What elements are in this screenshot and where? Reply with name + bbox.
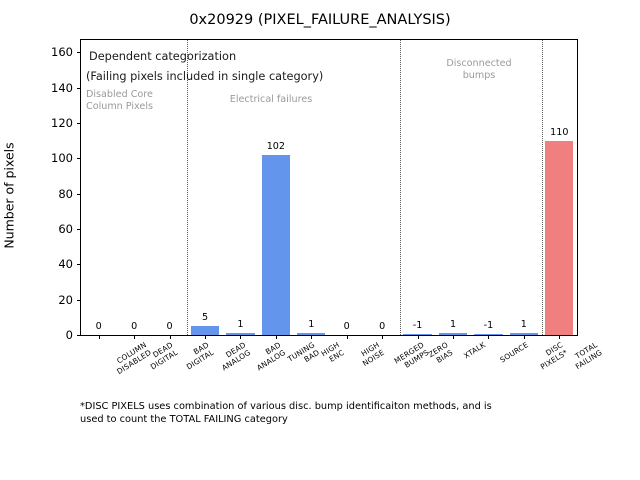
annotation-disconnected-bumps: Disconnected bumps — [446, 58, 511, 81]
category-divider-line — [187, 40, 188, 335]
x-axis-tick-label: TUNINGBAD — [286, 341, 321, 372]
x-axis-tick-mark — [134, 335, 135, 339]
x-axis-tick-label: HIGHNOISE — [356, 341, 386, 368]
x-axis-tick-mark — [170, 335, 171, 339]
bar — [262, 155, 290, 335]
x-axis-tick-label: BADDIGITAL — [180, 341, 215, 372]
x-axis-tick-mark — [382, 335, 383, 339]
y-axis-tick-mark — [77, 123, 81, 124]
y-axis-tick-label: 160 — [11, 45, 81, 59]
y-axis-tick-label: 60 — [11, 222, 81, 236]
bar — [439, 333, 467, 335]
bar-value-label: -1 — [484, 320, 494, 331]
bar — [474, 334, 502, 336]
x-axis-tick-label: MERGEDBUMPS — [393, 341, 431, 374]
bar-value-label: 0 — [131, 321, 137, 332]
bar-value-label: 1 — [521, 319, 527, 330]
x-axis-tick-mark — [311, 335, 312, 339]
y-axis-tick-mark — [77, 229, 81, 230]
y-axis-tick-label: 100 — [11, 151, 81, 165]
chart-figure: 0x20929 (PIXEL_FAILURE_ANALYSIS) Number … — [0, 0, 640, 480]
bar-value-label: 110 — [550, 127, 568, 138]
x-axis-tick-label: HIGHENC — [320, 341, 346, 366]
annotation-dependent-categorization-line2: (Failing pixels included in single categ… — [86, 70, 323, 83]
bar — [510, 333, 538, 335]
bar-value-label: 0 — [344, 321, 350, 332]
annotation-dependent-categorization-line1: Dependent categorization — [89, 50, 236, 63]
x-axis-tick-mark — [559, 335, 560, 339]
x-axis-tick-label: BADANALOG — [251, 341, 288, 373]
x-axis-tick-label: ZEROBIAS — [427, 341, 454, 367]
category-divider-line — [542, 40, 543, 335]
category-divider-line — [400, 40, 401, 335]
x-axis-tick-label: DEADDIGITAL — [145, 341, 180, 372]
y-axis-tick-label: 140 — [11, 81, 81, 95]
y-axis-tick-label: 0 — [11, 328, 81, 342]
y-axis-tick-label: 40 — [11, 257, 81, 271]
plot-area: Number of pixels 020406080100120140160 C… — [80, 39, 578, 336]
x-axis-tick-mark — [524, 335, 525, 339]
annotation-disabled-core-column-pixels: Disabled Core Column Pixels — [86, 89, 153, 112]
bar-value-label: 102 — [267, 141, 285, 152]
y-axis-tick-label: 80 — [11, 187, 81, 201]
y-axis-tick-mark — [77, 194, 81, 195]
bar-value-label: 0 — [96, 321, 102, 332]
x-axis-tick-mark — [347, 335, 348, 339]
plot-inner: Number of pixels 020406080100120140160 C… — [81, 40, 577, 335]
bar-value-label: 0 — [379, 321, 385, 332]
x-axis-tick-mark — [488, 335, 489, 339]
y-axis-tick-mark — [77, 88, 81, 89]
y-axis-tick-label: 120 — [11, 116, 81, 130]
x-axis-tick-mark — [276, 335, 277, 339]
y-axis-tick-mark — [77, 52, 81, 53]
bar — [545, 141, 573, 335]
bar-value-label: 1 — [450, 319, 456, 330]
bar-value-label: 1 — [308, 319, 314, 330]
footnote: *DISC PIXELS uses combination of various… — [80, 400, 600, 426]
x-axis-tick-label: TOTALFAILING — [570, 341, 604, 372]
x-axis-tick-label: DEADANALOG — [216, 341, 253, 373]
x-axis-tick-label: XTALK — [463, 341, 488, 361]
bar — [297, 333, 325, 335]
bar-value-label: 5 — [202, 312, 208, 323]
y-axis-tick-label: 20 — [11, 293, 81, 307]
bar-value-label: -1 — [413, 320, 423, 331]
page-title: 0x20929 (PIXEL_FAILURE_ANALYSIS) — [0, 12, 640, 28]
y-axis-tick-mark — [77, 300, 81, 301]
x-axis-tick-mark — [453, 335, 454, 339]
x-axis-tick-mark — [240, 335, 241, 339]
y-axis-tick-mark — [77, 158, 81, 159]
bar — [191, 326, 219, 335]
x-axis-tick-mark — [205, 335, 206, 339]
x-axis-tick-label: DISCPIXELS* — [534, 341, 569, 372]
x-axis-tick-mark — [99, 335, 100, 339]
bar — [403, 334, 431, 336]
x-axis-tick-label: SOURCE — [499, 341, 531, 365]
annotation-electrical-failures: Electrical failures — [230, 94, 312, 106]
bar-value-label: 1 — [237, 319, 243, 330]
bar-value-label: 0 — [167, 321, 173, 332]
y-axis-tick-mark — [77, 335, 81, 336]
y-axis-tick-mark — [77, 264, 81, 265]
bar — [226, 333, 254, 335]
x-axis-tick-mark — [418, 335, 419, 339]
